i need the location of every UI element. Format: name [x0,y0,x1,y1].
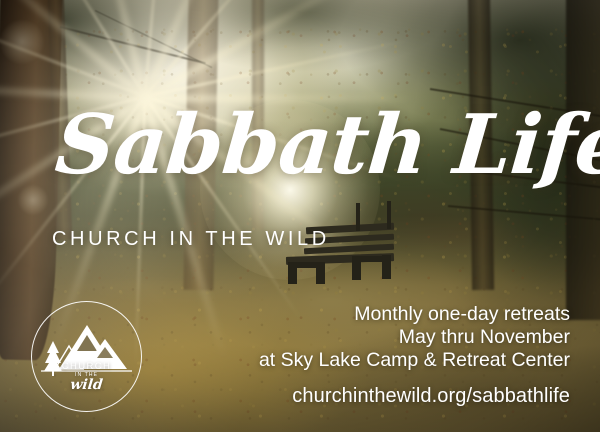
logo-badge[interactable]: CHURCH IN THE wild [31,301,142,412]
info-line-location: at Sky Lake Camp & Retreat Center [259,349,570,372]
logo-name: CHURCH IN THE [31,361,142,378]
poster-canvas: Sabbath Life CHURCH IN THE WILD Monthly … [0,0,600,432]
logo-name-church: CHURCH [62,361,112,372]
website-url[interactable]: churchinthewild.org/sabbathlife [259,385,570,408]
info-line-frequency: Monthly one-day retreats [259,303,570,326]
page-subtitle: CHURCH IN THE WILD [52,228,330,251]
lens-flare-icon [0,20,44,64]
page-title: Sabbath Life [52,104,600,186]
info-line-dates: May thru November [259,326,570,349]
lens-flare-icon [18,185,48,215]
logo-mountains-icon [31,301,142,412]
event-info-block: Monthly one-day retreats May thru Novemb… [259,303,570,408]
logo-name-wild: wild [30,377,143,393]
